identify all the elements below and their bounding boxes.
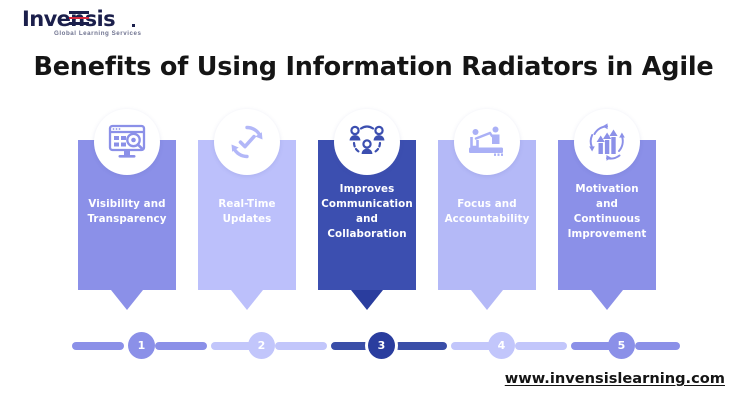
benefit-card-3-pointer [351,290,383,310]
benefit-card-5[interactable]: Motivation and Continuous Improvement [558,140,656,290]
refresh-cycle-check-icon [214,109,280,175]
timeline-node-5-number: 5 [618,339,626,352]
logo-mark: Invensis [22,8,140,30]
benefit-card-1[interactable]: Visibility and Transparency [78,140,176,290]
benefit-card-5-pointer [591,290,623,310]
logo-bars-icon [69,11,89,26]
logo-bar-top [69,11,89,14]
timeline-segment-2 [155,342,207,350]
benefit-card-3-label: Improves Communication and Collaboration [321,182,412,242]
logo-bar-middle [69,17,89,20]
benefit-cards-row: Visibility and Transparency [78,140,678,315]
growth-arrows-cycle-icon [574,109,640,175]
timeline-node-2[interactable]: 2 [248,332,275,359]
timeline-node-2-number: 2 [258,339,266,352]
benefit-card-2[interactable]: Real-Time Updates [198,140,296,290]
benefit-card-4-pointer [471,290,503,310]
benefit-card-4-label: Focus and Accountability [443,197,531,227]
infographic-canvas: Invensis Global Learning Services Benefi… [0,0,747,420]
timeline-segment-8 [515,342,567,350]
website-url[interactable]: www.invensislearning.com [505,370,725,387]
logo-dot [132,24,135,27]
benefit-card-2-label: Real-Time Updates [203,197,291,227]
timeline-node-4-number: 4 [498,339,506,352]
timeline-node-5[interactable]: 5 [608,332,635,359]
dashboard-monitor-search-icon [94,109,160,175]
timeline-node-4[interactable]: 4 [488,332,515,359]
timeline-segment-10 [635,342,680,350]
benefit-card-5-label: Motivation and Continuous Improvement [563,182,651,242]
timeline-segment-1 [72,342,124,350]
three-people-network-icon [334,109,400,175]
benefit-card-3[interactable]: Improves Communication and Collaboration [318,140,416,290]
benefit-card-4[interactable]: Focus and Accountability [438,140,536,290]
benefit-card-1-label: Visibility and Transparency [83,197,171,227]
timeline-node-3-number: 3 [378,339,386,352]
timeline-node-3[interactable]: 3 [368,332,395,359]
timeline-node-1[interactable]: 1 [128,332,155,359]
benefit-card-2-pointer [231,290,263,310]
timeline-node-1-number: 1 [138,339,146,352]
invensis-logo: Invensis Global Learning Services [22,8,152,42]
page-title: Benefits of Using Information Radiators … [0,52,747,82]
timeline-segment-6 [395,342,447,350]
logo-tagline: Global Learning Services [54,30,141,37]
progress-timeline: 1 2 3 4 5 [72,332,680,360]
teamwork-ladder-icon [454,109,520,175]
benefit-card-1-pointer [111,290,143,310]
timeline-segment-4 [275,342,327,350]
logo-bar-bottom [69,22,89,25]
